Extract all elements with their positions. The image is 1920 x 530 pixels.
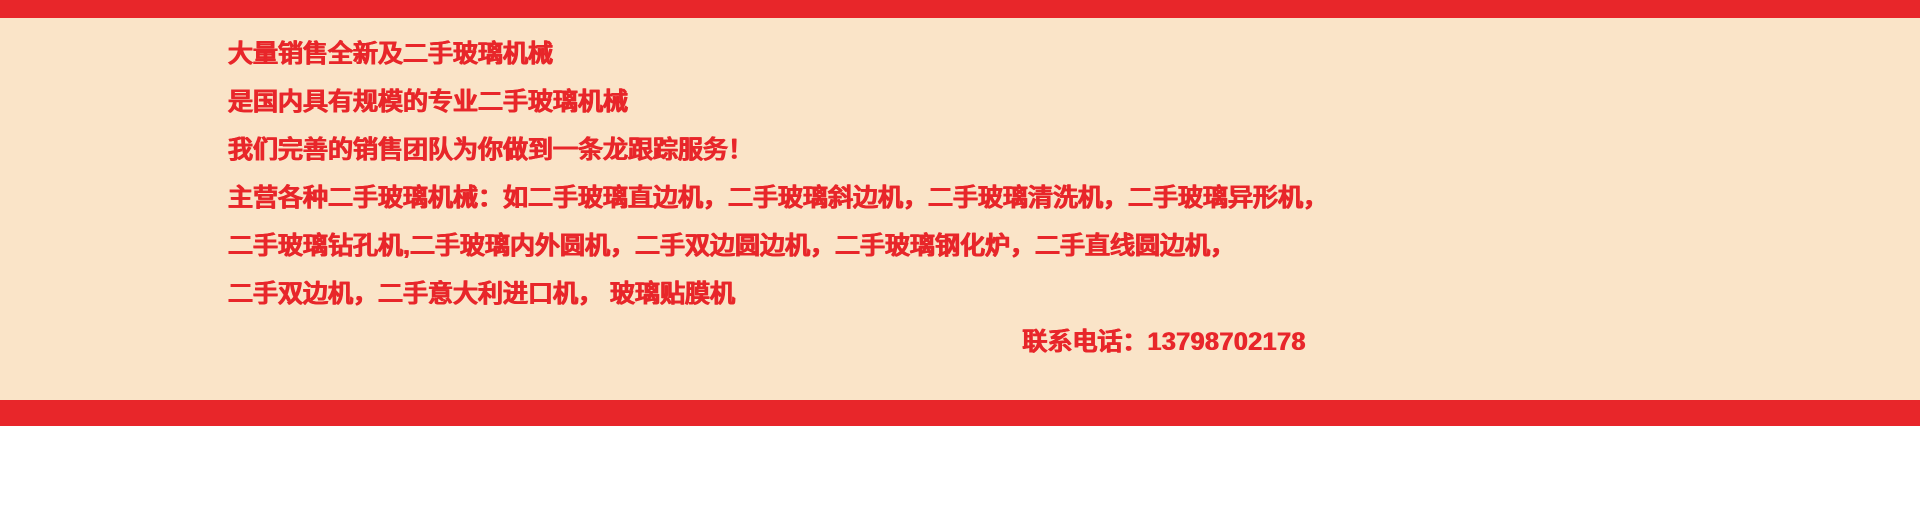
headline-line-1: 大量销售全新及二手玻璃机械 <box>228 30 1888 78</box>
product-list-line-2: 二手玻璃钻孔机,二手玻璃内外圆机，二手双边圆边机，二手玻璃钢化炉，二手直线圆边机… <box>228 222 1888 270</box>
contact-info: 联系电话：13798702178 <box>953 270 1306 400</box>
advertisement-banner: 大量销售全新及二手玻璃机械 是国内具有规模的专业二手玻璃机械 我们完善的销售团队… <box>0 0 1920 530</box>
top-red-bar <box>0 0 1920 18</box>
product-list-line-1: 主营各种二手玻璃机械：如二手玻璃直边机，二手玻璃斜边机，二手玻璃清洗机，二手玻璃… <box>228 174 1888 222</box>
banner-body: 大量销售全新及二手玻璃机械 是国内具有规模的专业二手玻璃机械 我们完善的销售团队… <box>0 18 1920 400</box>
headline-line-3: 我们完善的销售团队为你做到一条龙跟踪服务！ <box>228 126 1888 174</box>
page-white-space <box>0 426 1920 530</box>
contact-phone-number[interactable]: 13798702178 <box>1147 328 1305 356</box>
headline-line-2: 是国内具有规模的专业二手玻璃机械 <box>228 78 1888 126</box>
product-list-line-3: 二手双边机，二手意大利进口机， 玻璃贴膜机 <box>228 270 735 318</box>
product-list-and-contact-line: 二手双边机，二手意大利进口机， 玻璃贴膜机 联系电话：13798702178 <box>228 270 1888 400</box>
contact-label: 联系电话： <box>1022 328 1147 356</box>
promo-text-block: 大量销售全新及二手玻璃机械 是国内具有规模的专业二手玻璃机械 我们完善的销售团队… <box>228 26 1888 400</box>
bottom-red-bar <box>0 400 1920 426</box>
